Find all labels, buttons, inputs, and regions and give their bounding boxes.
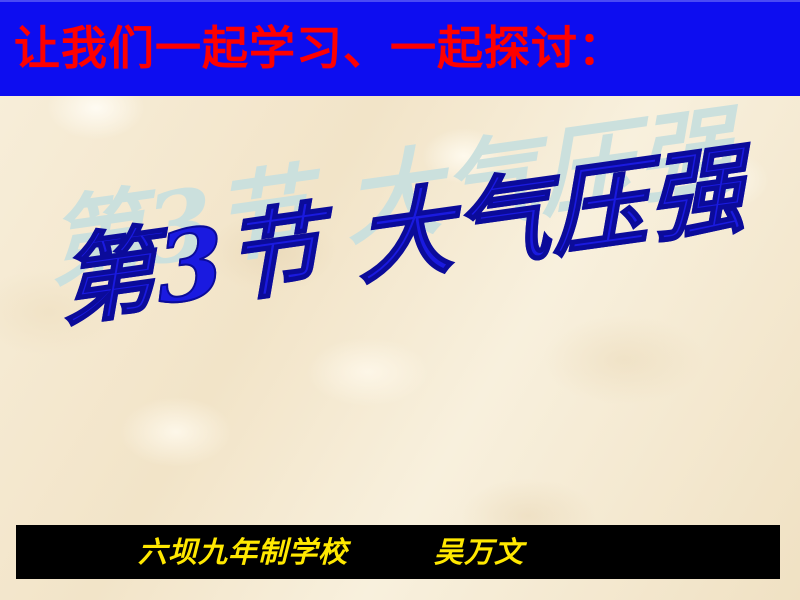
presentation-slide: 让我们一起学习、一起探讨： 第3节 大气压强 第3节 大气压强 六坝九年制学校 …: [0, 0, 800, 600]
footer-bar: 六坝九年制学校 吴万文: [16, 525, 780, 579]
footer-author-name: 吴万文: [434, 535, 524, 569]
header-title-text: 让我们一起学习、一起探讨：: [14, 19, 625, 77]
footer-school-name: 六坝九年制学校: [138, 535, 348, 569]
header-banner: 让我们一起学习、一起探讨：: [0, 0, 800, 96]
footer-content: 六坝九年制学校 吴万文: [16, 525, 780, 579]
main-title-block: 第3节 大气压强 第3节 大气压强: [52, 134, 745, 367]
